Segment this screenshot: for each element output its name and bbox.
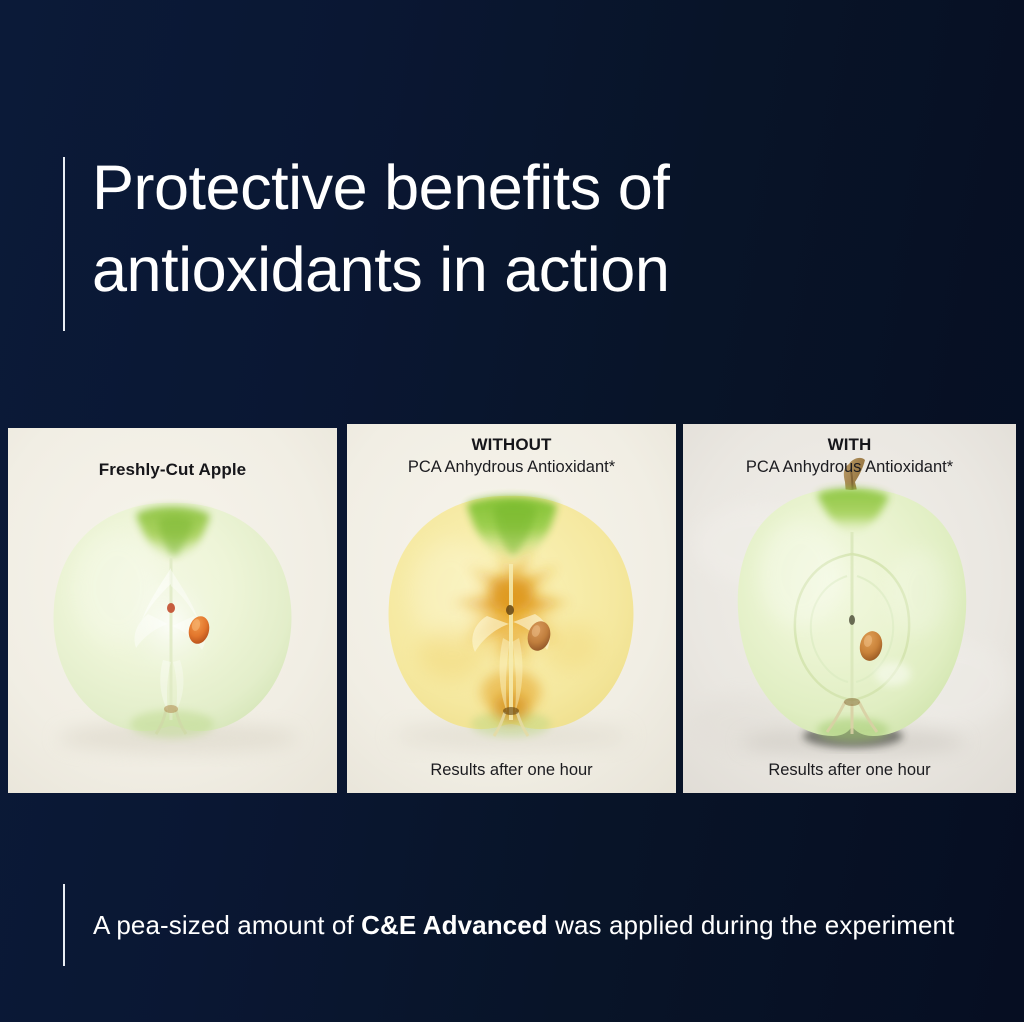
panel-1-title: Freshly-Cut Apple	[8, 459, 337, 481]
panel-2-header: WITHOUT PCA Anhydrous Antioxidant*	[347, 434, 676, 479]
apple-core-dot	[167, 603, 175, 613]
apple-core-dot	[506, 605, 514, 615]
panel-1-header: Freshly-Cut Apple	[8, 459, 337, 481]
panel-with-antioxidant: WITH PCA Anhydrous Antioxidant* Results …	[683, 424, 1016, 793]
panel-without-antioxidant: WITHOUT PCA Anhydrous Antioxidant* Resul…	[347, 424, 676, 793]
panel-3-title: WITH	[683, 434, 1016, 456]
caption-text: A pea-sized amount of C&E Advanced was a…	[65, 910, 954, 941]
headline-text: Protective benefits of antioxidants in a…	[65, 147, 669, 311]
panel-2-title: WITHOUT	[347, 434, 676, 456]
comparison-panels: Freshly-Cut Apple	[8, 424, 1016, 793]
apple-photo-protected	[683, 424, 1016, 793]
headline-line-1: Protective benefits of	[92, 147, 669, 229]
apple-photo-fresh	[8, 428, 337, 793]
apple-core-dot	[849, 615, 855, 625]
panel-2-footer: Results after one hour	[347, 759, 676, 781]
poster-canvas: Protective benefits of antioxidants in a…	[0, 0, 1024, 1022]
panel-freshly-cut: Freshly-Cut Apple	[8, 428, 337, 793]
panel-3-subtitle: PCA Anhydrous Antioxidant*	[683, 456, 1016, 479]
caption-product-name: C&E Advanced	[361, 910, 548, 940]
headline-block: Protective benefits of antioxidants in a…	[63, 157, 823, 331]
apple-photo-oxidized	[347, 424, 676, 793]
headline-line-2: antioxidants in action	[92, 229, 669, 311]
panel-3-footer: Results after one hour	[683, 759, 1016, 781]
caption-block: A pea-sized amount of C&E Advanced was a…	[63, 884, 963, 966]
panel-3-header: WITH PCA Anhydrous Antioxidant*	[683, 434, 1016, 479]
caption-suffix: was applied during the experiment	[548, 910, 955, 940]
caption-prefix: A pea-sized amount of	[93, 910, 361, 940]
panel-2-subtitle: PCA Anhydrous Antioxidant*	[347, 456, 676, 479]
